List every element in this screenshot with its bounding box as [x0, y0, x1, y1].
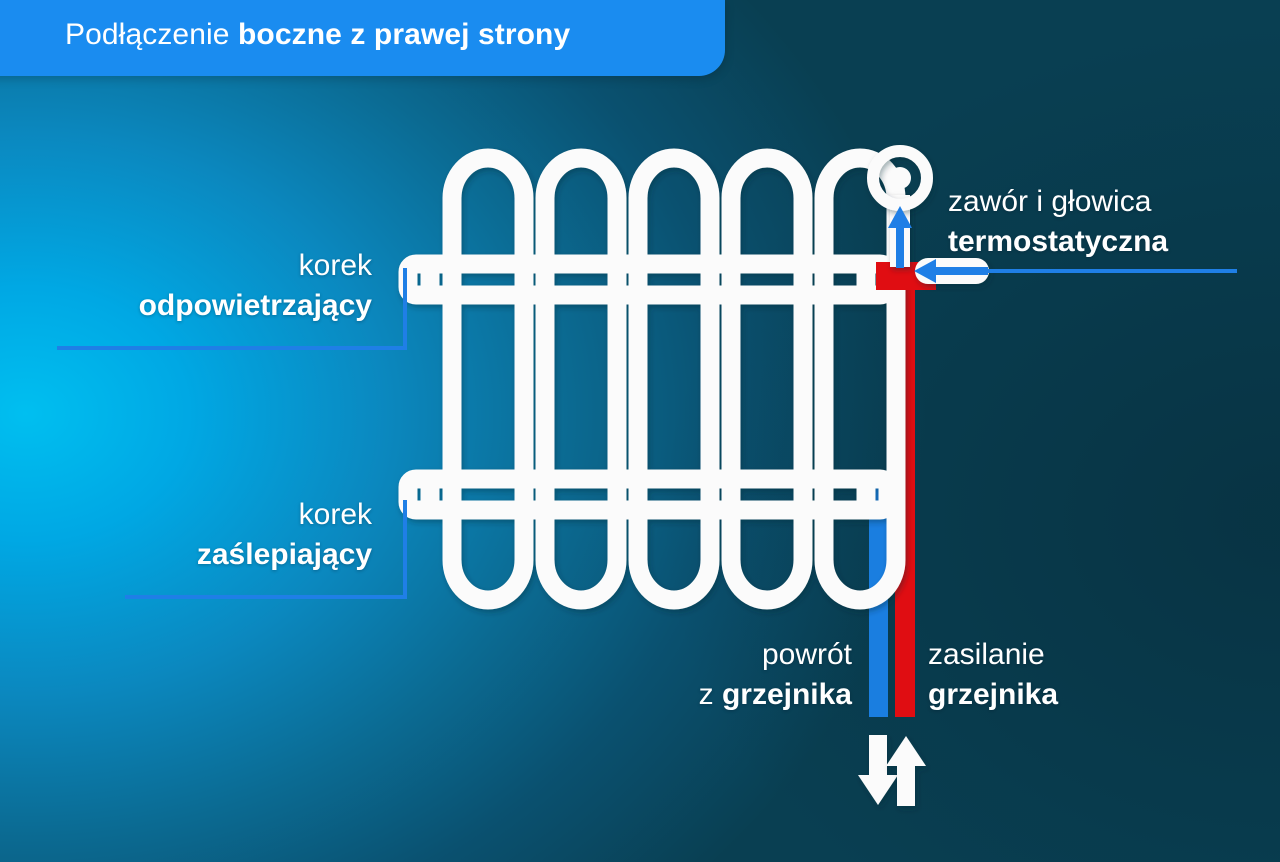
leader-line-blank-plug-horizontal [125, 595, 407, 599]
radiator-diagram [0, 0, 1280, 862]
label-bleed-plug: korek odpowietrzający [0, 246, 372, 326]
radiator-body [408, 158, 896, 600]
label-blank-plug: korek zaślepiający [0, 495, 372, 575]
label-thermostatic-valve-line1: zawór i głowica [948, 182, 1168, 222]
leader-line-thermostatic-valve [985, 269, 1237, 273]
infographic-canvas: Podłączenie boczne z prawej strony [0, 0, 1280, 862]
return-flow-arrow-icon [858, 735, 898, 805]
label-return-pipe-line2-regular: z [699, 678, 722, 711]
label-thermostatic-valve: zawór i głowica termostatyczna [948, 182, 1168, 262]
radiator-fin-2 [545, 158, 617, 600]
header-title-bold: boczne z prawej strony [238, 18, 570, 51]
label-supply-pipe-line1: zasilanie [928, 635, 1058, 675]
label-return-pipe-line2-bold: grzejnika [722, 678, 852, 711]
radiator-fin-4 [731, 158, 803, 600]
thermostat-head-center-dot [889, 167, 911, 189]
label-return-pipe: powrót z grzejnika [480, 635, 852, 715]
label-return-pipe-line1: powrót [480, 635, 852, 675]
label-thermostatic-valve-line2: termostatyczna [948, 222, 1168, 262]
leader-line-bleed-plug-vertical [403, 268, 407, 350]
radiator-fin-1 [452, 158, 524, 600]
label-bleed-plug-line1: korek [0, 246, 372, 286]
header-title-regular: Podłączenie [65, 18, 238, 51]
label-blank-plug-line1: korek [0, 495, 372, 535]
header-banner: Podłączenie boczne z prawej strony [0, 0, 725, 76]
label-supply-pipe: zasilanie grzejnika [928, 635, 1058, 715]
label-return-pipe-line2: z grzejnika [480, 675, 852, 715]
label-bleed-plug-line2: odpowietrzający [0, 286, 372, 326]
label-supply-pipe-line2: grzejnika [928, 675, 1058, 715]
leader-line-blank-plug-vertical [403, 500, 407, 599]
label-blank-plug-line2: zaślepiający [0, 535, 372, 575]
supply-flow-arrow-icon [886, 736, 926, 806]
leader-line-bleed-plug-horizontal [57, 346, 407, 350]
radiator-fin-3 [638, 158, 710, 600]
header-banner-title: Podłączenie boczne z prawej strony [65, 18, 570, 52]
